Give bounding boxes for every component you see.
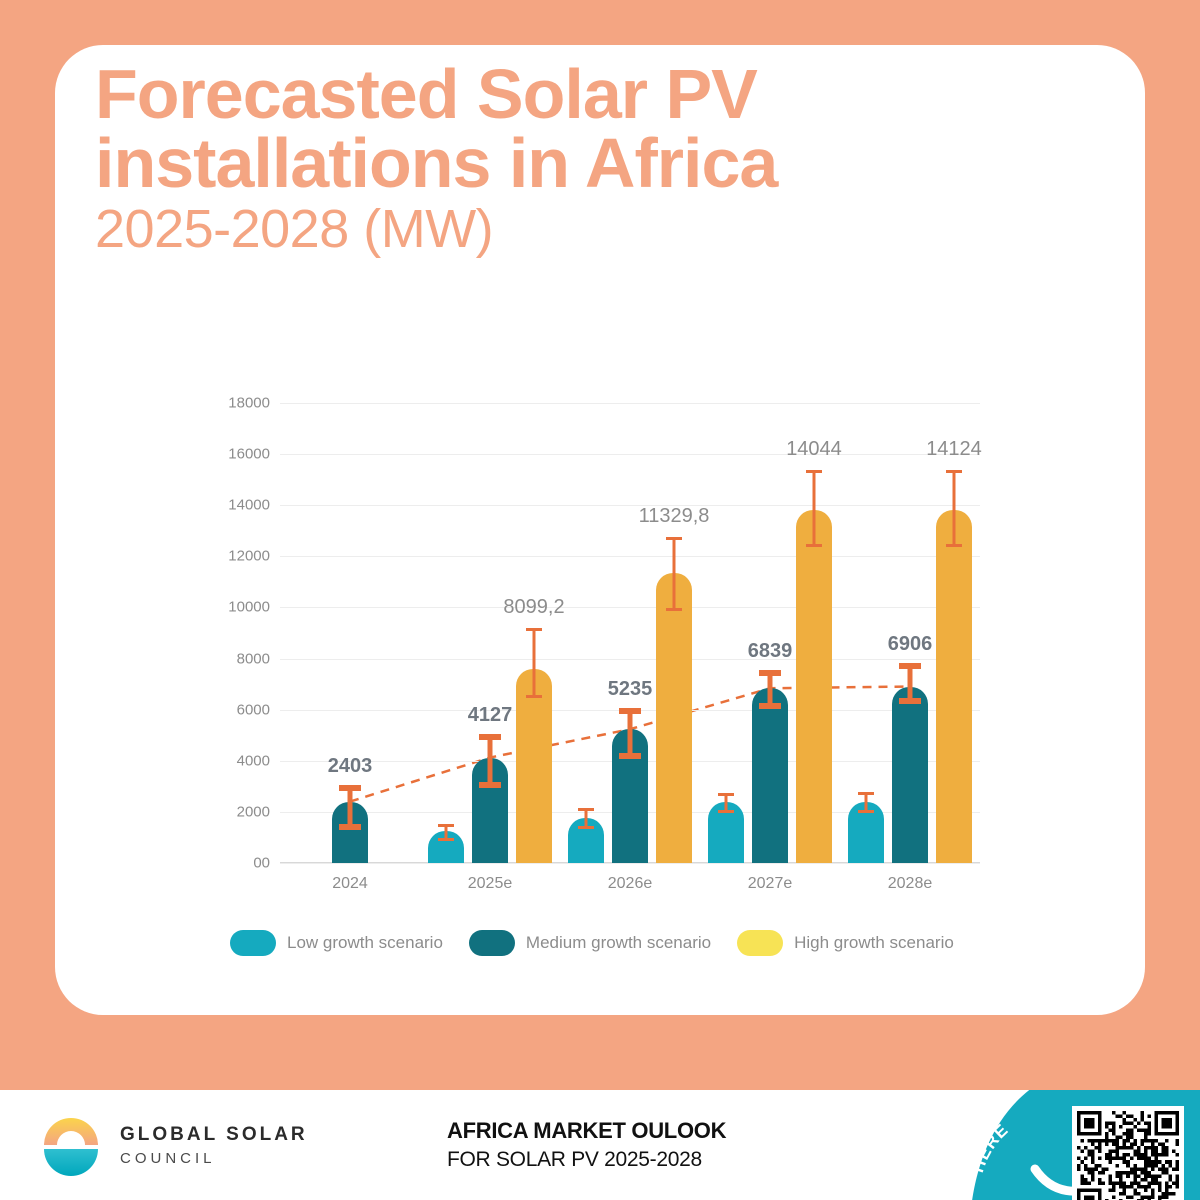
title-line-3: 2025-2028 (MW) [95,201,995,258]
data-label-medium-2024: 2403 [328,755,373,778]
data-label-high-2025e: 8099,2 [503,596,564,619]
legend-item-2[interactable]: High growth scenario [737,930,954,956]
qr-code[interactable] [1072,1106,1184,1200]
error-bar-stem [445,825,448,839]
chart-legend: Low growth scenarioMedium growth scenari… [230,930,954,956]
error-bar-cap-lower [806,544,822,547]
y-axis-tick-label: 6000 [237,701,270,718]
footer: GLOBAL SOLAR COUNCIL AFRICA MARKET OULOO… [0,1090,1200,1200]
legend-item-1[interactable]: Medium growth scenario [469,930,711,956]
bar-high-2025e [516,669,552,863]
error-bar-cap-lower [858,810,874,813]
legend-label: Medium growth scenario [526,933,711,953]
y-axis-tick-label: 8000 [237,650,270,667]
report-title-line-1: AFRICA MARKET OULOOK [447,1118,726,1144]
x-axis-tick-label: 2024 [332,875,368,893]
error-bar-stem [488,737,493,786]
data-label-medium-2027e: 6839 [748,640,793,663]
error-bar-cap-lower [946,544,962,547]
legend-label: Low growth scenario [287,933,443,953]
legend-swatch [737,930,783,956]
error-bar-cap-lower [479,782,501,788]
error-bar-stem [628,711,633,756]
error-bar-cap-upper [946,470,962,473]
legend-label: High growth scenario [794,933,954,953]
error-bar-cap-lower [759,703,781,709]
error-bar-cap-upper [899,663,921,669]
error-bar-cap-lower [438,838,454,841]
error-bar-cap-upper [806,470,822,473]
download-here-label: DOWNLOAD HERE [950,1090,1070,1200]
y-axis-tick-label: 2000 [237,803,270,820]
x-axis-tick-label: 2026e [608,875,653,893]
bar-high-2027e [796,510,832,863]
data-label-high-2027e: 14044 [786,438,842,461]
error-bar-stem [673,538,676,608]
legend-item-0[interactable]: Low growth scenario [230,930,443,956]
error-bar-cap-upper [526,628,542,631]
legend-swatch [230,930,276,956]
logo-text-secondary: COUNCIL [120,1150,308,1167]
error-bar-cap-upper [858,792,874,795]
global-solar-council-logo-icon [38,1112,104,1178]
page-title: Forecasted Solar PV installations in Afr… [95,60,995,258]
error-bar-stem [533,629,536,695]
y-axis-tick-label: 10000 [228,599,270,616]
data-label-medium-2026e: 5235 [608,678,653,701]
report-title: AFRICA MARKET OULOOK FOR SOLAR PV 2025-2… [447,1118,726,1172]
error-bar-stem [348,788,353,828]
y-axis-tick-label: 16000 [228,446,270,463]
bar-high-2028e [936,510,972,863]
logo-text-primary: GLOBAL SOLAR [120,1124,308,1146]
x-axis-tick-label: 2025e [468,875,513,893]
error-bar-cap-upper [759,670,781,676]
error-bar-stem [725,794,728,811]
data-label-medium-2025e: 4127 [468,704,513,727]
report-title-line-2: FOR SOLAR PV 2025-2028 [447,1148,726,1172]
data-label-high-2026e: 11329,8 [639,505,710,528]
y-axis-tick-label: 4000 [237,752,270,769]
bar-high-2026e [656,573,692,863]
error-bar-stem [953,471,956,545]
data-label-medium-2028e: 6906 [888,633,933,656]
error-bar-stem [865,793,868,811]
title-line-2: installations in Africa [95,129,995,198]
error-bar-cap-upper [578,808,594,811]
error-bar-cap-lower [619,753,641,759]
error-bar-cap-lower [526,695,542,698]
chart-plot-area: 0020004000600080001000012000140001600018… [280,403,980,863]
gridline [280,505,980,506]
error-bar-cap-upper [619,708,641,714]
error-bar-cap-lower [578,826,594,829]
gridline [280,607,980,608]
y-axis-tick-label: 18000 [228,395,270,412]
x-axis-tick-label: 2027e [748,875,793,893]
bar-medium-2027e [752,688,788,863]
error-bar-stem [585,809,588,827]
error-bar-cap-lower [899,698,921,704]
error-bar-cap-upper [479,734,501,740]
y-axis-tick-label: 14000 [228,497,270,514]
gridline [280,454,980,455]
bar-chart: 0020004000600080001000012000140001600018… [185,345,995,975]
gridline [280,403,980,404]
error-bar-cap-lower [718,810,734,813]
error-bar-cap-upper [438,824,454,827]
y-axis-tick-label: 00 [253,855,270,872]
download-panel[interactable]: DOWNLOAD HERE [940,1090,1200,1200]
error-bar-cap-lower [666,608,682,611]
gridline [280,659,980,660]
error-bar-cap-upper [718,793,734,796]
poster-root: Forecasted Solar PV installations in Afr… [0,0,1200,1200]
gridline [280,556,980,557]
x-axis-tick-label: 2028e [888,875,933,893]
legend-swatch [469,930,515,956]
y-axis-tick-label: 12000 [228,548,270,565]
title-line-1: Forecasted Solar PV [95,60,995,129]
error-bar-stem [813,471,816,545]
error-bar-cap-upper [666,537,682,540]
error-bar-stem [908,666,913,701]
data-label-high-2028e: 14124 [926,438,982,461]
brand-logo: GLOBAL SOLAR COUNCIL [38,1112,308,1178]
error-bar-stem [768,673,773,706]
error-bar-cap-lower [339,824,361,830]
gridline [280,863,980,864]
bar-medium-2028e [892,687,928,863]
error-bar-cap-upper [339,785,361,791]
